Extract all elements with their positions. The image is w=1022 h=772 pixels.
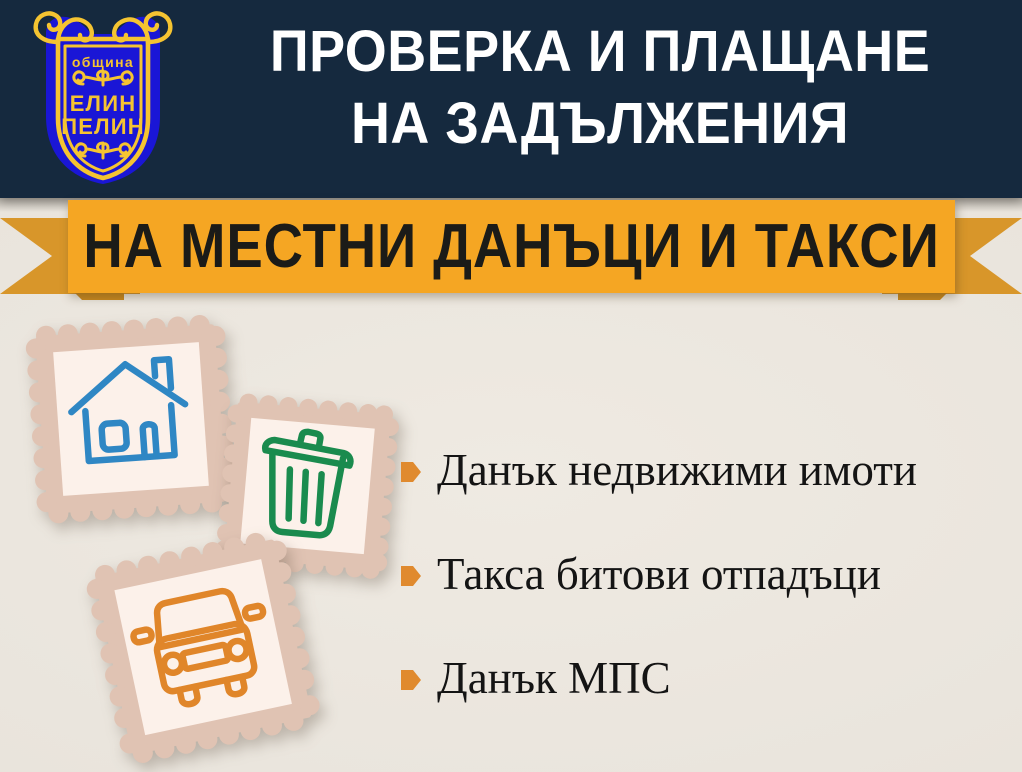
page-title: ПРОВЕРКА И ПЛАЩАНЕ НА ЗАДЪЛЖЕНИЯ bbox=[190, 16, 1010, 160]
arrow-bullet-icon bbox=[400, 459, 422, 485]
arrow-bullet-icon bbox=[400, 667, 422, 693]
crest-line-3: ПЕЛИН bbox=[61, 114, 145, 139]
list-item[interactable]: Такса битови отпадъци bbox=[400, 522, 1015, 626]
list-item[interactable]: Данък недвижими имоти bbox=[400, 418, 1015, 522]
list-item[interactable]: Данък МПС bbox=[400, 626, 1015, 730]
tax-services-list: Данък недвижими имоти Такса битови отпад… bbox=[400, 418, 1015, 730]
title-line-1: ПРОВЕРКА И ПЛАЩАНЕ bbox=[219, 16, 982, 88]
poster-canvas: община ЕЛИН ПЕЛИН ПРОВЕ bbox=[0, 0, 1022, 772]
coat-of-arms-shield-icon: община ЕЛИН ПЕЛИН bbox=[28, 6, 178, 188]
stamp-card-car bbox=[84, 530, 324, 772]
ribbon-text: НА МЕСТНИ ДАНЪЦИ И ТАКСИ bbox=[83, 216, 939, 278]
crest-line-1: община bbox=[72, 54, 134, 70]
ribbon-banner: НА МЕСТНИ ДАНЪЦИ И ТАКСИ bbox=[0, 200, 1022, 310]
arrow-bullet-icon bbox=[400, 563, 422, 589]
title-line-2: НА ЗАДЪЛЖЕНИЯ bbox=[219, 88, 982, 160]
crest-line-2: ЕЛИН bbox=[70, 91, 137, 116]
ribbon-body: НА МЕСТНИ ДАНЪЦИ И ТАКСИ bbox=[68, 200, 955, 293]
list-item-label: Данък МПС bbox=[437, 653, 671, 703]
list-item-label: Данък недвижими имоти bbox=[437, 445, 917, 495]
list-item-label: Такса битови отпадъци bbox=[437, 549, 881, 599]
